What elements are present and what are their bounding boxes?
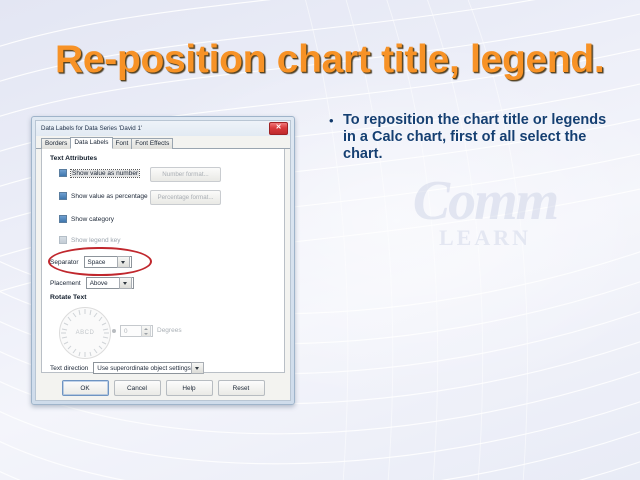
checkbox-label: Show legend key: [71, 237, 121, 244]
dialog-title: Data Labels for Data Series 'David 1': [41, 125, 269, 132]
data-labels-dialog: Data Labels for Data Series 'David 1' ✕ …: [35, 120, 291, 401]
degrees-label: Degrees: [157, 327, 182, 334]
checkbox-show-legend-key: Show legend key: [59, 236, 121, 244]
field-text-direction: Text direction Use superordinate object …: [50, 362, 194, 374]
placement-value: Above: [87, 280, 119, 287]
checkbox-show-value-as-number[interactable]: Show value as number: [59, 169, 139, 177]
tab-borders[interactable]: Borders: [41, 138, 71, 150]
help-button[interactable]: Help: [166, 380, 213, 396]
ok-button[interactable]: OK: [62, 380, 109, 396]
spinner-arrows-icon[interactable]: [141, 325, 151, 337]
number-format-label: Number format...: [162, 171, 208, 178]
dialog-footer: OK Cancel Help Reset: [36, 373, 290, 400]
chevron-down-icon[interactable]: [119, 277, 132, 289]
placement-dropdown[interactable]: Above: [86, 277, 134, 289]
field-placement: Placement Above: [50, 277, 134, 289]
checkbox-show-category[interactable]: Show category: [59, 215, 114, 223]
slide-canvas: Comm LEARN Re-position chart title, lege…: [0, 0, 640, 480]
tab-data-labels[interactable]: Data Labels: [70, 137, 112, 150]
section-heading-text-attributes: Text Attributes: [50, 155, 97, 162]
text-direction-label: Text direction: [50, 365, 88, 372]
placement-label: Placement: [50, 280, 81, 287]
percentage-format-label: Percentage format...: [157, 194, 213, 201]
bullet-point-icon: •: [325, 112, 343, 129]
bullet-list: • To reposition the chart title or legen…: [325, 112, 615, 163]
bullet-text: To reposition the chart title or legends…: [343, 112, 615, 163]
checkbox-icon: [59, 169, 67, 177]
checkbox-icon: [59, 236, 67, 244]
checkbox-icon: [59, 215, 67, 223]
separator-value: Space: [85, 259, 117, 266]
list-item: • To reposition the chart title or legen…: [325, 112, 615, 163]
percentage-format-button[interactable]: Percentage format...: [150, 190, 221, 205]
dialog-window-frame: Data Labels for Data Series 'David 1' ✕ …: [31, 116, 295, 405]
chevron-down-icon[interactable]: [191, 362, 204, 374]
text-direction-dropdown[interactable]: Use superordinate object settings: [93, 362, 194, 374]
checkbox-show-value-as-percentage[interactable]: Show value as percentage: [59, 192, 148, 200]
rotation-dial-handle[interactable]: [112, 329, 116, 333]
close-icon[interactable]: ✕: [269, 122, 288, 135]
number-format-button[interactable]: Number format...: [150, 167, 221, 182]
degrees-value: 0: [121, 328, 141, 335]
section-heading-rotate-text: Rotate Text: [50, 294, 87, 301]
rotation-dial-label: ABCD: [60, 308, 110, 358]
tab-font[interactable]: Font: [112, 138, 133, 150]
dialog-titlebar[interactable]: Data Labels for Data Series 'David 1' ✕: [36, 121, 290, 136]
checkbox-label: Show value as percentage: [71, 193, 148, 200]
reset-button[interactable]: Reset: [218, 380, 265, 396]
checkbox-label: Show category: [71, 216, 114, 223]
page-title: Re-position chart title, legend.: [55, 38, 615, 82]
dialog-page-data-labels: Text Attributes Show value as number Num…: [41, 149, 285, 373]
chevron-down-icon[interactable]: [117, 256, 130, 268]
checkbox-label: Show value as number: [71, 170, 139, 177]
rotation-dial[interactable]: ABCD: [59, 307, 111, 359]
separator-dropdown[interactable]: Space: [84, 256, 132, 268]
tab-font-effects[interactable]: Font Effects: [131, 138, 173, 150]
degrees-stepper[interactable]: 0: [120, 325, 153, 337]
text-direction-value: Use superordinate object settings: [94, 365, 190, 372]
dialog-tabstrip: Borders Data Labels Font Font Effects: [36, 136, 290, 149]
checkbox-icon: [59, 192, 67, 200]
field-separator: Separator Space: [50, 256, 132, 268]
close-glyph: ✕: [270, 123, 287, 134]
separator-label: Separator: [50, 259, 79, 266]
cancel-button[interactable]: Cancel: [114, 380, 161, 396]
